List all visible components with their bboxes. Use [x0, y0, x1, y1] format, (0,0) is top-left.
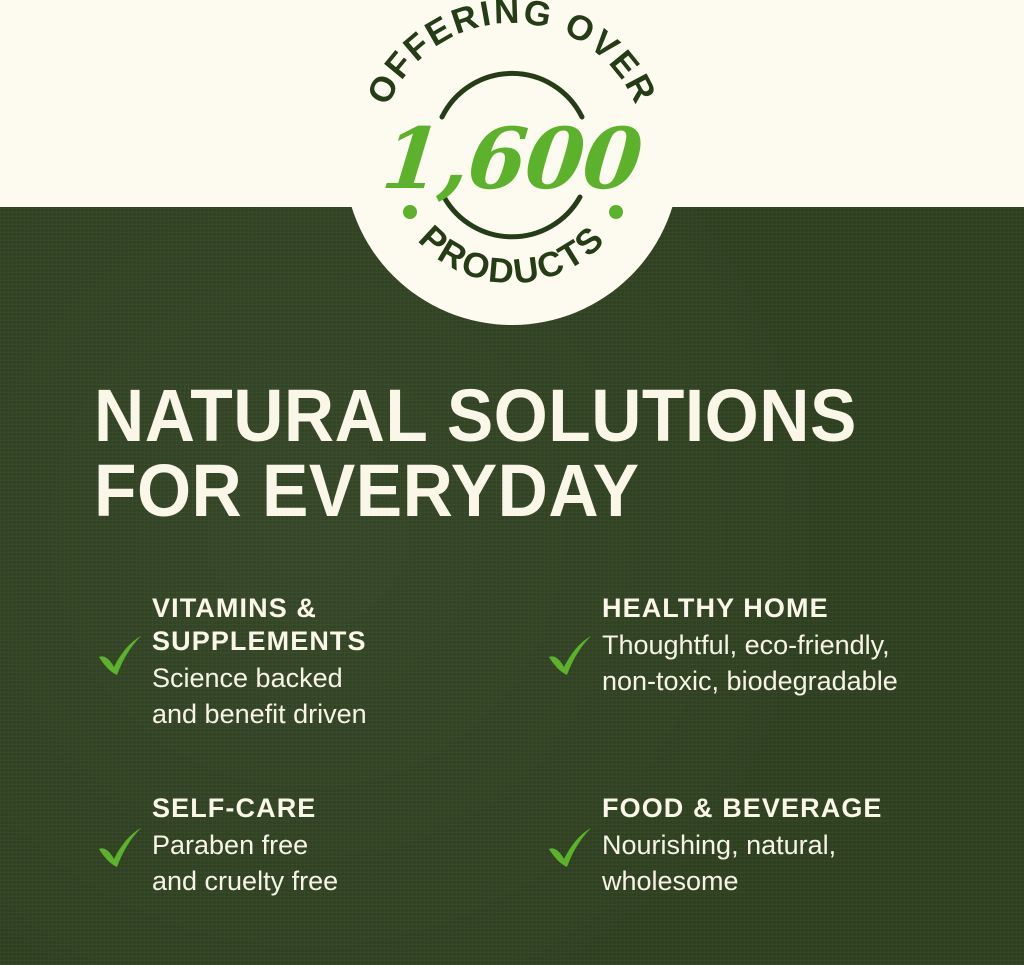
benefit-description: Paraben free and cruelty free	[152, 827, 338, 899]
benefit-item-healthy-home: HEALTHY HOME Thoughtful, eco-friendly, n…	[544, 592, 994, 792]
badge-inner-arc-bottom	[444, 197, 580, 237]
benefit-item-food-beverage: FOOD & BEVERAGE Nourishing, natural, who…	[544, 792, 994, 965]
benefit-description: Thoughtful, eco-friendly, non-toxic, bio…	[602, 627, 898, 699]
badge-artwork: OFFERING OVER PRODUCTS	[344, 0, 680, 325]
badge-bottom-arc-text: PRODUCTS	[411, 218, 612, 292]
benefit-text-block: HEALTHY HOME Thoughtful, eco-friendly, n…	[602, 592, 898, 699]
benefit-list: VITAMINS & SUPPLEMENTS Science backed an…	[94, 592, 994, 965]
benefit-description: Science backed and benefit driven	[152, 660, 367, 732]
benefit-title: HEALTHY HOME	[602, 592, 898, 625]
badge-dot-right	[609, 205, 623, 219]
checkmark-icon	[544, 822, 596, 874]
checkmark-icon	[94, 630, 146, 682]
promo-poster: OFFERING OVER PRODUCTS 1,600 NATURAL SOL…	[0, 0, 1024, 965]
benefit-text-block: SELF-CARE Paraben free and cruelty free	[152, 792, 338, 899]
checkmark-icon	[94, 822, 146, 874]
badge-dot-left	[403, 205, 417, 219]
benefit-item-self-care: SELF-CARE Paraben free and cruelty free	[94, 792, 544, 965]
page-title: NATURAL SOLUTIONS FOR EVERYDAY	[94, 378, 921, 529]
benefit-item-vitamins-supplements: VITAMINS & SUPPLEMENTS Science backed an…	[94, 592, 544, 792]
benefit-description: Nourishing, natural, wholesome	[602, 827, 883, 899]
headline-line-2: FOR EVERYDAY	[94, 453, 921, 528]
benefit-title: VITAMINS & SUPPLEMENTS	[152, 592, 367, 658]
benefit-text-block: FOOD & BEVERAGE Nourishing, natural, who…	[602, 792, 883, 899]
badge-inner-arc-top	[442, 73, 582, 117]
benefit-title: SELF-CARE	[152, 792, 338, 825]
checkmark-icon	[544, 630, 596, 682]
benefit-title: FOOD & BEVERAGE	[602, 792, 883, 825]
headline-line-1: NATURAL SOLUTIONS	[94, 378, 921, 453]
badge-top-arc-text: OFFERING OVER	[360, 0, 665, 111]
benefit-text-block: VITAMINS & SUPPLEMENTS Science backed an…	[152, 592, 367, 732]
